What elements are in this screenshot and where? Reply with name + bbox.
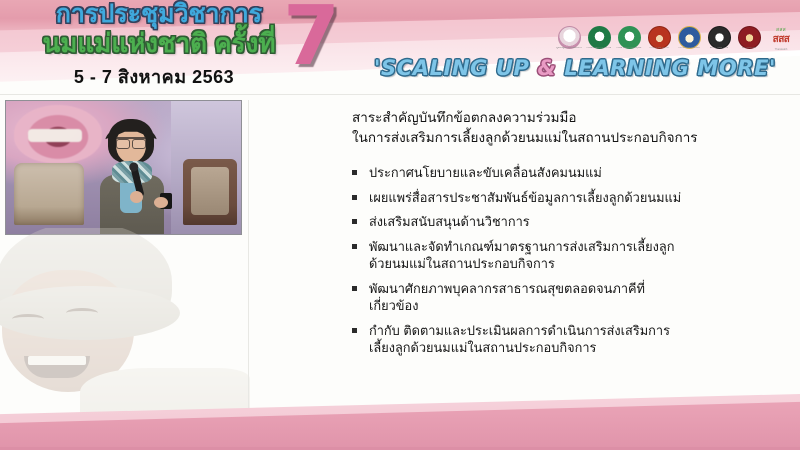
black-circle-institution-logo: สภาการพยาบาล	[706, 22, 732, 52]
content-lead-line2: ในการส่งเสริมการเลี้ยงลูกด้วยนมแม่ในสถาน…	[352, 128, 772, 148]
sponsor-logo-row: มูลนิธิศูนย์นมแม่แห่งประเทศไทย กรมอนามัย…	[556, 22, 796, 52]
content-divider	[248, 100, 249, 408]
slide-footer-band	[0, 394, 800, 450]
logo-caption: มูลนิธิศูนย์นมแม่แห่งประเทศไทย	[556, 47, 582, 52]
watermark-child-eye-left	[12, 314, 44, 324]
logo-disc	[678, 26, 701, 49]
bullet-line1: พัฒนาศักยภาพบุคลากรสาธารณสุขตลอดจนภาคีที…	[369, 281, 645, 296]
logo-disc	[558, 26, 581, 49]
logo-caption: สภาการพยาบาล	[706, 47, 732, 52]
speaker-glasses	[116, 137, 146, 147]
list-item: พัฒนาศักยภาพบุคลากรสาธารณสุขตลอดจนภาคีที…	[352, 280, 772, 315]
ministry-of-public-health-logo: กรมอนามัย กระทรวงสาธารณสุข	[586, 22, 612, 52]
logo-caption: มหาวิทยาลัย	[736, 47, 762, 52]
sss-logo-main-text: สสส	[766, 32, 796, 47]
slide-header-banner: การประชุมวิชาการ นมแม่แห่งชาติ ครั้งที่ …	[0, 0, 800, 96]
logo-caption: กระทรวงแรงงาน	[646, 47, 672, 52]
list-item: ประกาศนโยบายและขับเคลื่อนสังคมนมแม่	[352, 164, 772, 182]
conference-title: การประชุมวิชาการ นมแม่แห่งชาติ ครั้งที่	[14, 2, 304, 56]
logo-caption: กรมสวัสดิการและคุ้มครองแรงงาน	[616, 47, 642, 52]
list-item: เผยแพร่สื่อสารประชาสัมพันธ์ข้อมูลการเลี้…	[352, 189, 772, 207]
slide-content: สาระสำคัญบันทึกข้อตกลงความร่วมมือ ในการส…	[352, 108, 772, 364]
logo-disc	[738, 26, 761, 49]
logo-caption: กรมอนามัย กระทรวงสาธารณสุข	[586, 47, 612, 52]
garuda-emblem-logo: กระทรวงมหาดไทย	[676, 22, 702, 52]
bullet-line2: เลี้ยงลูกด้วยนมแม่ในสถานประกอบกิจการ	[369, 339, 772, 357]
content-bullet-list: ประกาศนโยบายและขับเคลื่อนสังคมนมแม่ เผยแ…	[352, 164, 772, 357]
bullet-line1: ส่งเสริมสนับสนุนด้านวิชาการ	[369, 214, 530, 229]
square-bullet-icon	[352, 195, 357, 200]
bullet-line2: เกี่ยวข้อง	[369, 297, 772, 315]
square-bullet-icon	[352, 244, 357, 249]
watermark-child-eye-right	[66, 308, 98, 318]
slogan-ampersand: &	[537, 56, 556, 80]
bullet-line1: พัฒนาและจัดทำเกณฑ์มาตรฐานการส่งเสริมการเ…	[369, 239, 674, 254]
logo-disc	[648, 26, 671, 49]
list-item: ส่งเสริมสนับสนุนด้านวิชาการ	[352, 213, 772, 231]
header-underline	[0, 94, 800, 95]
conference-slogan: 'SCALING UP & LEARNING MORE'	[360, 56, 790, 80]
speaker-hand-right	[154, 197, 168, 208]
square-bullet-icon	[352, 328, 357, 333]
thai-royal-emblem-logo: มูลนิธิศูนย์นมแม่แห่งประเทศไทย	[556, 22, 582, 52]
photo-chair-left	[14, 163, 84, 225]
conference-title-line2: นมแม่แห่งชาติ ครั้งที่	[14, 30, 304, 56]
list-item: กำกับ ติดตามและประเมินผลการดำเนินการส่งเ…	[352, 322, 772, 357]
logo-disc	[618, 26, 641, 49]
watermark-child-teeth	[28, 356, 86, 365]
red-seal-university-logo: มหาวิทยาลัย	[736, 22, 762, 52]
bullet-line2: ด้วยนมแม่ในสถานประกอบกิจการ	[369, 255, 772, 273]
presentation-slide: การประชุมวิชาการ นมแม่แห่งชาติ ครั้งที่ …	[0, 0, 800, 450]
bullet-line1: เผยแพร่สื่อสารประชาสัมพันธ์ข้อมูลการเลี้…	[369, 190, 681, 205]
content-lead: สาระสำคัญบันทึกข้อตกลงความร่วมมือ ในการส…	[352, 108, 772, 148]
slogan-part1: 'SCALING UP	[374, 56, 538, 80]
logo-disc	[588, 26, 611, 49]
square-bullet-icon	[352, 286, 357, 291]
slogan-part2: LEARNING MORE'	[556, 56, 776, 80]
sss-logo-caption: ThaiHealth	[766, 48, 796, 51]
square-bullet-icon	[352, 219, 357, 224]
ministry-of-labour-logo: กระทรวงแรงงาน	[646, 22, 672, 52]
bullet-line1: กำกับ ติดตามและประเมินผลการดำเนินการส่งเ…	[369, 323, 670, 338]
photo-speaker-figure	[88, 119, 174, 234]
conference-title-line1: การประชุมวิชาการ	[14, 2, 304, 27]
logo-disc	[708, 26, 731, 49]
content-lead-line1: สาระสำคัญบันทึกข้อตกลงความร่วมมือ	[352, 108, 772, 128]
speaker-hand-left	[130, 191, 143, 203]
department-of-health-logo: กรมสวัสดิการและคุ้มครองแรงงาน	[616, 22, 642, 52]
speaker-photo	[5, 100, 242, 235]
photo-chair-right	[183, 159, 237, 225]
list-item: พัฒนาและจัดทำเกณฑ์มาตรฐานการส่งเสริมการเ…	[352, 238, 772, 273]
smiling-child-watermark	[0, 228, 250, 413]
thaihealth-sss-logo: สสส สสส ThaiHealth	[766, 22, 796, 52]
conference-date: 5 - 7 สิงหาคม 2563	[14, 62, 294, 91]
logo-caption: กระทรวงมหาดไทย	[676, 47, 702, 52]
bullet-line1: ประกาศนโยบายและขับเคลื่อนสังคมนมแม่	[369, 165, 602, 180]
square-bullet-icon	[352, 170, 357, 175]
